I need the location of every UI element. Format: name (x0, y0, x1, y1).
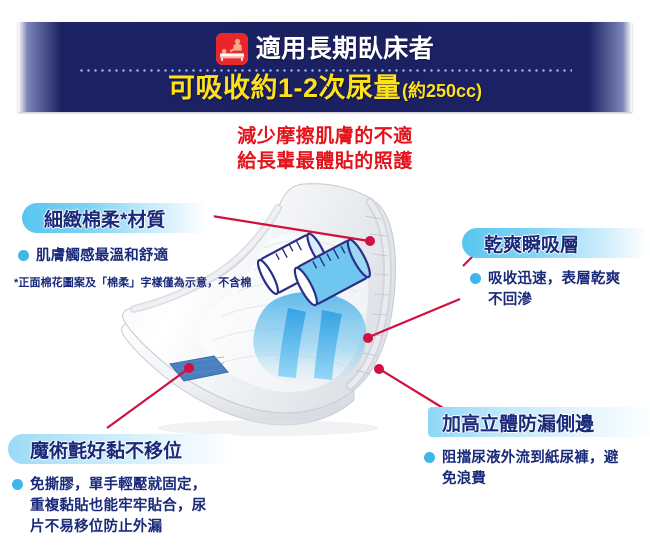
banner-title: 適用長期臥床者 (256, 37, 435, 62)
bullet-cotton-material-text: 肌膚觸感最溫和舒適 (36, 246, 168, 267)
pill-cotton-material: 細緻棉柔*材質 (22, 203, 214, 233)
pill-cotton-material-label: 細緻棉柔*材質 (44, 205, 165, 232)
bullet-velcro-line-2: 重複黏貼也能牢牢貼合，尿 (30, 498, 206, 514)
bullet-dot-icon (424, 452, 435, 463)
slogan: 減少摩擦肌膚的不適 給長輩最體貼的照護 (0, 124, 650, 174)
bullet-dry-layer-line-1: 吸收迅速，表層乾爽 (488, 271, 620, 287)
slogan-line-1: 減少摩擦肌膚的不適 (0, 124, 650, 149)
banner-subtitle-row: 可吸收約1-2次尿量 (約250cc) (18, 75, 632, 109)
bullet-leak-guard-line-2: 免浪費 (442, 471, 486, 487)
bullet-leak-guard-text: 阻擋尿液外流到紙尿褲，避 免浪費 (442, 448, 618, 490)
pill-dry-layer-label: 乾爽瞬吸層 (484, 230, 579, 257)
banner-dotted-divider (78, 69, 572, 72)
bullet-leak-guard-line-1: 阻擋尿液外流到紙尿褲，避 (442, 450, 618, 466)
bullet-velcro-line-3: 片不易移位防止外漏 (30, 519, 162, 535)
header-banner: 適用長期臥床者 可吸收約1-2次尿量 (約250cc) (18, 22, 632, 112)
bullet-cotton-material: 肌膚觸感最溫和舒適 (18, 246, 168, 267)
bullet-dot-icon (18, 250, 29, 261)
pill-velcro-label: 魔術氈好黏不移位 (30, 436, 182, 463)
bullet-velcro-text: 免撕膠，單手輕壓就固定， 重複黏貼也能牢牢貼合，尿 片不易移位防止外漏 (30, 475, 206, 538)
bullet-dry-layer-line-2: 不回滲 (488, 292, 532, 308)
banner-subtitle-main: 可吸收約1-2次尿量 (168, 75, 401, 102)
slogan-line-2: 給長輩最體貼的照護 (0, 149, 650, 174)
infographic-root: 適用長期臥床者 可吸收約1-2次尿量 (約250cc) 減少摩擦肌膚的不適 給長… (0, 0, 650, 553)
bullet-dot-icon (12, 479, 23, 490)
banner-title-row: 適用長期臥床者 (18, 29, 632, 69)
pill-leak-guard-label: 加高立體防漏側邊 (442, 409, 594, 436)
bullet-leak-guard: 阻擋尿液外流到紙尿褲，避 免浪費 (424, 448, 618, 490)
note-cotton-material: *正面棉花圖案及「棉柔」字樣僅為示意，不含棉 (14, 274, 251, 290)
bullet-dot-icon (470, 273, 481, 284)
bullet-velcro-line-1: 免撕膠，單手輕壓就固定， (30, 477, 206, 493)
banner-subtitle-paren: (約250cc) (402, 82, 482, 100)
pill-velcro: 魔術氈好黏不移位 (8, 434, 242, 464)
pill-dry-layer: 乾爽瞬吸層 (462, 228, 650, 258)
pill-leak-guard: 加高立體防漏側邊 (428, 407, 650, 437)
bullet-dry-layer: 吸收迅速，表層乾爽 不回滲 (470, 269, 620, 311)
bedridden-care-icon (216, 33, 248, 65)
bullet-velcro: 免撕膠，單手輕壓就固定， 重複黏貼也能牢牢貼合，尿 片不易移位防止外漏 (12, 475, 206, 538)
bullet-dry-layer-text: 吸收迅速，表層乾爽 不回滲 (488, 269, 620, 311)
